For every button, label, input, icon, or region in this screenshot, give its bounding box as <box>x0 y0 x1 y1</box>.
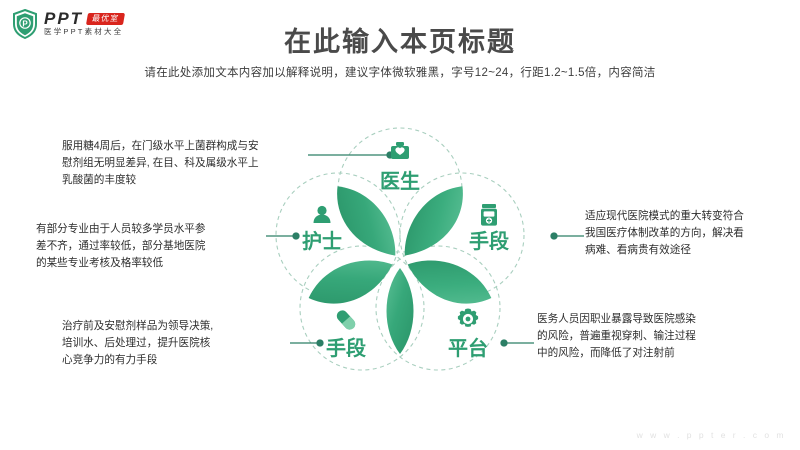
connector-dot-middle-right <box>551 233 557 239</box>
page-subtitle: 请在此处添加文本内容加以解释说明，建议字体微软雅黑，字号12~24，行距1.2~… <box>0 64 800 80</box>
connector-dot-top-left <box>387 152 393 158</box>
connector-dot-bottom-left <box>317 340 323 346</box>
node-platform[interactable]: 平台 <box>448 309 488 361</box>
circle-nurse <box>276 173 400 297</box>
pill-capsule-icon <box>335 308 358 332</box>
petal-2 <box>393 174 475 268</box>
node-label-means-bottom-left: 手段 <box>326 336 366 360</box>
user-person-icon <box>314 206 331 223</box>
note-middle-left: 有部分专业由于人员较多学员水平参 差不齐，通过率较低，部分基地医院 的某些专业考… <box>36 221 264 272</box>
venn-petals <box>302 174 497 354</box>
medical-kit-icon <box>391 142 409 159</box>
circle-platform <box>376 246 500 370</box>
petal-5 <box>387 268 414 354</box>
circle-means-right <box>400 173 524 297</box>
connector-dot-middle-left <box>293 233 299 239</box>
node-nurse[interactable]: 护士 <box>302 206 342 253</box>
connector-dot-bottom-right <box>501 340 507 346</box>
circle-doctor <box>338 128 462 252</box>
medicine-jar-icon <box>481 204 497 226</box>
node-label-platform: 平台 <box>448 336 488 360</box>
petal-3 <box>302 251 399 313</box>
site-watermark: w w w . p p t e r . c o m <box>637 430 786 440</box>
note-middle-right: 适应现代医院模式的重大转变符合 我国医疗体制改革的方向，解决看 病难、看病贵有效… <box>585 208 797 259</box>
note-bottom-left: 治疗前及安慰剂样品为领导决策, 培训水、后处理过，提升医院核 心竞争力的有力手段 <box>62 318 288 369</box>
node-label-nurse: 护士 <box>302 229 342 253</box>
venn-dashed-circles <box>276 128 524 370</box>
petal-1 <box>325 174 407 268</box>
note-bottom-right: 医务人员因职业暴露导致医院感染 的风险，普遍重视穿刺、输注过程 中的风险，而降低… <box>537 311 767 362</box>
node-label-means-right: 手段 <box>469 229 509 253</box>
node-doctor[interactable]: 医生 <box>380 142 420 193</box>
node-means-right[interactable]: 手段 <box>469 204 509 253</box>
page-title: 在此输入本页标题 <box>0 20 800 59</box>
node-means-bottom-left[interactable]: 手段 <box>326 308 366 360</box>
gear-icon <box>458 309 478 327</box>
node-label-doctor: 医生 <box>380 170 420 193</box>
petal-4 <box>401 251 498 313</box>
note-top-left: 服用糖4周后，在门级水平上菌群构成与安 慰剂组无明显差异, 在目、科及属级水平上… <box>62 138 302 189</box>
circle-means-bottom-left <box>300 246 424 370</box>
